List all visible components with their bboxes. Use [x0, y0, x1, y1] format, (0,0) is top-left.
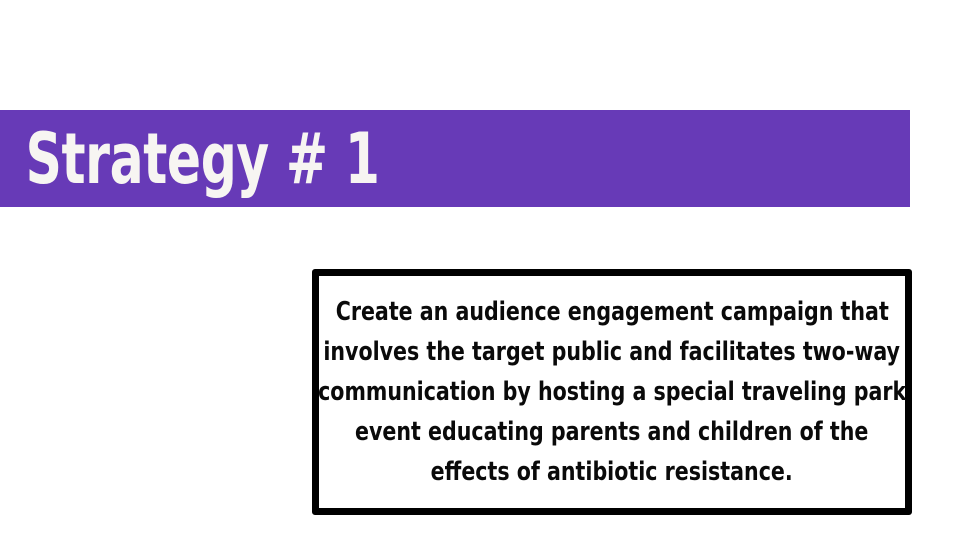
body-text-line: communication by hosting a special trave… — [318, 372, 906, 412]
body-text-line: involves the target public and facilitat… — [324, 332, 901, 372]
body-text-line: Create an audience engagement campaign t… — [335, 292, 888, 332]
body-text-line: effects of antibiotic resistance. — [431, 452, 793, 492]
page-title: Strategy # 1 — [0, 121, 380, 197]
title-banner: Strategy # 1 — [0, 110, 910, 207]
slide-canvas: Strategy # 1 Create an audience engageme… — [0, 0, 960, 540]
strategy-description-box: Create an audience engagement campaign t… — [312, 269, 912, 515]
body-text-line: event educating parents and children of … — [355, 412, 868, 452]
